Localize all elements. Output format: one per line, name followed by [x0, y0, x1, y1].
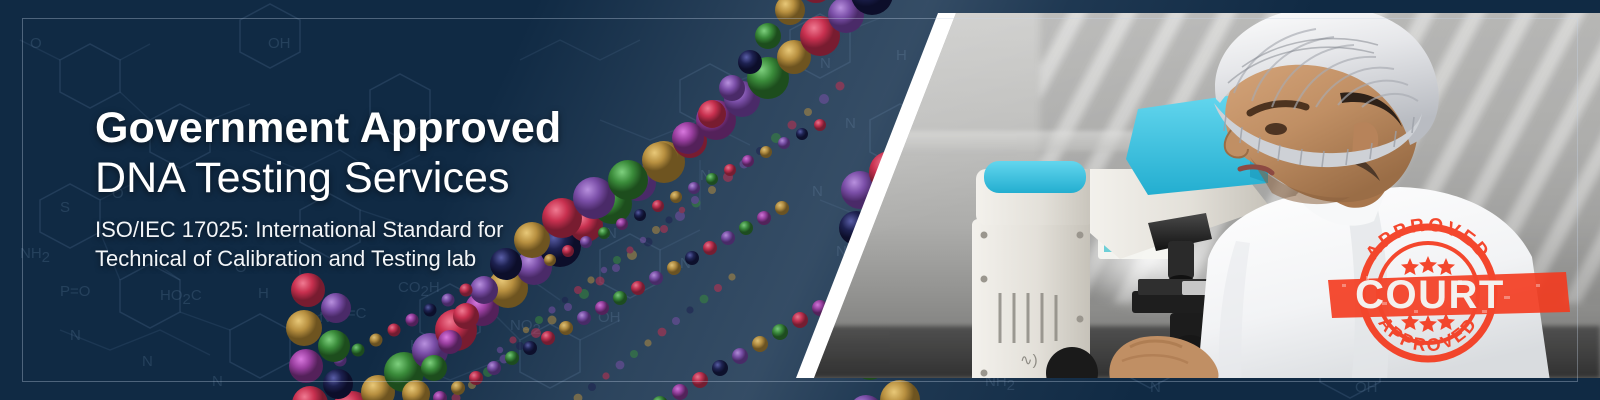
svg-text:O: O: [30, 35, 42, 52]
dna-testing-services-banner: O O NH2 HO2C OH H H2N CO2H C=C H N NO2 O…: [0, 0, 1600, 400]
svg-text:OH: OH: [268, 35, 291, 52]
svg-text:N: N: [142, 353, 153, 370]
svg-text:H: H: [258, 285, 269, 302]
subheadline-line-1: ISO/IEC 17025: International Standard fo…: [95, 215, 755, 244]
svg-text:N: N: [1150, 379, 1161, 396]
svg-text:N: N: [212, 373, 223, 390]
headline-block: Government Approved DNA Testing Services…: [95, 106, 755, 274]
svg-text:∿): ∿): [1020, 352, 1038, 369]
svg-text:HO2C: HO2C: [160, 287, 202, 308]
svg-text:OH: OH: [1355, 379, 1378, 396]
svg-text:NH2: NH2: [20, 245, 50, 266]
headline-line-2: DNA Testing Services: [95, 155, 755, 201]
svg-text:S: S: [60, 199, 70, 216]
technician-hand: [1100, 313, 1260, 378]
svg-text:P=O: P=O: [60, 283, 90, 300]
svg-text:N: N: [70, 327, 81, 344]
headline-line-1: Government Approved: [95, 106, 755, 151]
subheadline-line-2: Technical of Calibration and Testing lab: [95, 244, 755, 273]
court-approved-stamp: APPROVED APPROVED: [1290, 218, 1590, 368]
